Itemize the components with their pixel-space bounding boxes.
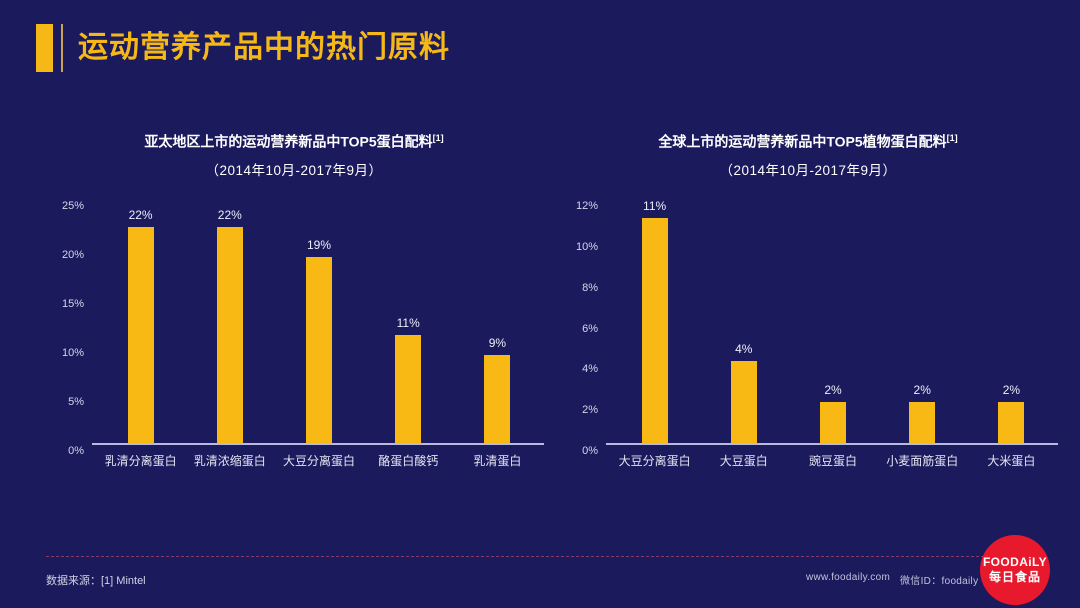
- bar[interactable]: [484, 355, 510, 443]
- x-axis-category-label: 乳清分离蛋白: [96, 452, 185, 469]
- bar[interactable]: [998, 402, 1024, 443]
- bar-slot[interactable]: 11%: [364, 198, 453, 443]
- bar-value-label: 22%: [129, 208, 153, 222]
- bar-value-label: 2%: [914, 383, 931, 397]
- footer-wechat-id: 微信ID：foodaily: [900, 572, 978, 587]
- bar-value-label: 4%: [735, 342, 752, 356]
- header-accent-bar: [36, 24, 53, 72]
- bar[interactable]: [909, 402, 935, 443]
- x-axis-category-labels: 乳清分离蛋白乳清浓缩蛋白大豆分离蛋白酪蛋白酸钙乳清蛋白: [96, 452, 542, 469]
- logo-chinese-text: 每日食品: [989, 570, 1041, 585]
- y-axis-tick: 25%: [24, 200, 84, 212]
- bar-value-label: 2%: [1003, 383, 1020, 397]
- chart-subtitle: （2014年10月-2017年9月）: [34, 161, 554, 181]
- logo-english-text: FOODAiLY: [983, 555, 1047, 569]
- x-axis-category-label: 乳清浓缩蛋白: [185, 452, 274, 469]
- x-axis-category-label: 大豆分离蛋白: [274, 452, 363, 469]
- bar-slot[interactable]: 22%: [96, 198, 185, 443]
- footer-divider: [46, 556, 1034, 557]
- chart-title-footnote: [1]: [947, 133, 958, 143]
- chart-title-footnote: [1]: [433, 133, 444, 143]
- x-axis-category-label: 乳清蛋白: [453, 452, 542, 469]
- bar[interactable]: [820, 402, 846, 443]
- x-axis-baseline: [92, 443, 544, 445]
- x-axis-category-label: 小麦面筋蛋白: [878, 452, 967, 469]
- plot-area: 0%2%4%6%8%10%12% 11%4%2%2%2% 大豆分离蛋白大豆蛋白豌…: [548, 190, 1068, 480]
- bars-container: 22%22%19%11%9%: [96, 198, 542, 443]
- y-axis-tick: 0%: [538, 445, 598, 457]
- chart-panel-apac-protein: 亚太地区上市的运动营养新品中TOP5蛋白配料[1] （2014年10月-2017…: [34, 128, 554, 478]
- y-axis-tick: 15%: [24, 298, 84, 310]
- bar-slot[interactable]: 4%: [699, 198, 788, 443]
- x-axis-category-label: 豌豆蛋白: [788, 452, 877, 469]
- foodaily-logo: FOODAiLY 每日食品: [980, 535, 1050, 605]
- y-axis-tick: 2%: [538, 404, 598, 416]
- footer-website: www.foodaily.com: [806, 572, 890, 583]
- header-accent-rule: [61, 24, 63, 72]
- y-axis-tick: 6%: [538, 323, 598, 335]
- bars-container: 11%4%2%2%2%: [610, 198, 1056, 443]
- y-axis-tick: 20%: [24, 249, 84, 261]
- chart-subtitle: （2014年10月-2017年9月）: [548, 161, 1068, 181]
- chart-title-text: 全球上市的运动营养新品中TOP5植物蛋白配料: [658, 134, 946, 150]
- x-axis-category-labels: 大豆分离蛋白大豆蛋白豌豆蛋白小麦面筋蛋白大米蛋白: [610, 452, 1056, 469]
- y-axis-tick: 10%: [24, 347, 84, 359]
- y-axis-tick: 10%: [538, 241, 598, 253]
- x-axis-category-label: 大豆蛋白: [699, 452, 788, 469]
- bar-slot[interactable]: 19%: [274, 198, 363, 443]
- chart-title: 全球上市的运动营养新品中TOP5植物蛋白配料[1]: [548, 128, 1068, 152]
- y-axis-tick: 5%: [24, 396, 84, 408]
- bar-slot[interactable]: 9%: [453, 198, 542, 443]
- bar[interactable]: [128, 227, 154, 443]
- bar[interactable]: [642, 218, 668, 443]
- bar-slot[interactable]: 11%: [610, 198, 699, 443]
- y-axis-tick: 4%: [538, 363, 598, 375]
- bar[interactable]: [395, 335, 421, 443]
- y-axis-tick: 0%: [24, 445, 84, 457]
- x-axis-category-label: 大豆分离蛋白: [610, 452, 699, 469]
- x-axis-baseline: [606, 443, 1058, 445]
- bar-slot[interactable]: 2%: [788, 198, 877, 443]
- bar-slot[interactable]: 2%: [967, 198, 1056, 443]
- plot-area: 0%5%10%15%20%25% 22%22%19%11%9% 乳清分离蛋白乳清…: [34, 190, 554, 480]
- page-title: 运动营养产品中的热门原料: [78, 26, 450, 70]
- bar[interactable]: [217, 227, 243, 443]
- bar-value-label: 19%: [307, 238, 331, 252]
- y-axis-tick: 8%: [538, 282, 598, 294]
- bar-value-label: 2%: [824, 383, 841, 397]
- bar-value-label: 9%: [489, 336, 506, 350]
- bar-slot[interactable]: 22%: [185, 198, 274, 443]
- bar[interactable]: [731, 361, 757, 443]
- bar[interactable]: [306, 257, 332, 443]
- chart-title-text: 亚太地区上市的运动营养新品中TOP5蛋白配料: [144, 134, 432, 150]
- x-axis-category-label: 酪蛋白酸钙: [364, 452, 453, 469]
- x-axis-category-label: 大米蛋白: [967, 452, 1056, 469]
- bar-value-label: 11%: [397, 316, 420, 330]
- page-header: 运动营养产品中的热门原料: [0, 0, 1080, 96]
- y-axis-tick: 12%: [538, 200, 598, 212]
- data-source-note: 数据来源：[1] Mintel: [46, 572, 146, 588]
- chart-title: 亚太地区上市的运动营养新品中TOP5蛋白配料[1]: [34, 128, 554, 152]
- bar-value-label: 11%: [643, 199, 666, 213]
- bar-slot[interactable]: 2%: [878, 198, 967, 443]
- chart-panel-global-plant-protein: 全球上市的运动营养新品中TOP5植物蛋白配料[1] （2014年10月-2017…: [548, 128, 1068, 478]
- bar-value-label: 22%: [218, 208, 242, 222]
